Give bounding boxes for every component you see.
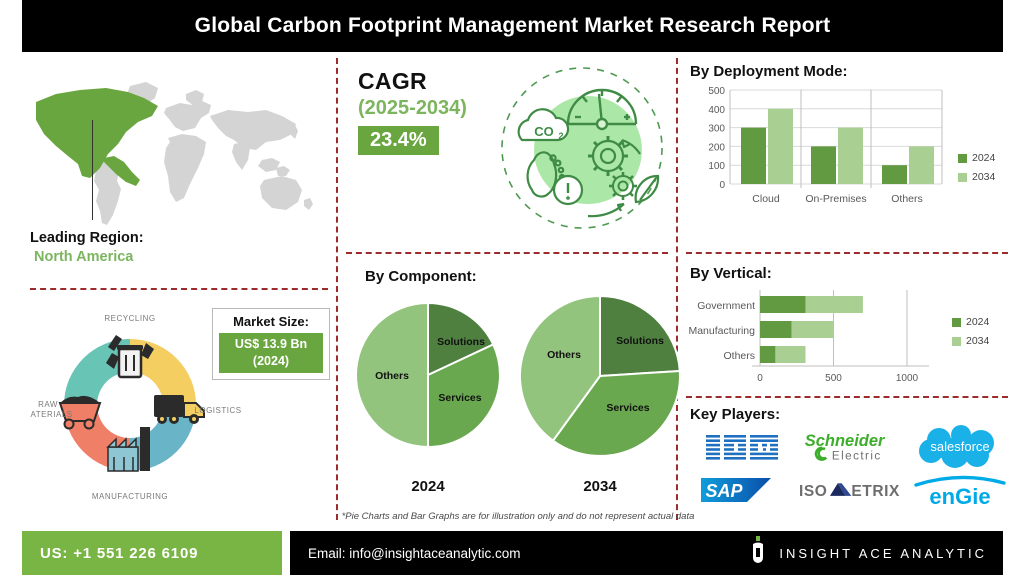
legend-item-2024: 2024 — [958, 152, 995, 164]
chart-disclaimer: *Pie Charts and Bar Graphs are for illus… — [332, 511, 704, 522]
footer-phone: US: +1 551 226 6109 — [40, 545, 198, 562]
pie-caption-2034: 2034 — [519, 478, 681, 495]
svg-text:Schneider: Schneider — [804, 432, 885, 450]
logo-ibm — [688, 424, 797, 470]
market-size-value: US$ 13.9 Bn — [235, 336, 307, 353]
svg-text:ISO: ISO — [799, 483, 827, 500]
svg-text:0: 0 — [757, 373, 763, 384]
map-pin-line — [92, 120, 93, 220]
svg-text:300: 300 — [708, 124, 725, 135]
cagr-label: CAGR — [358, 68, 467, 95]
svg-text:Electric: Electric — [832, 450, 882, 463]
svg-text:Services: Services — [606, 402, 649, 414]
legend-swatch-2024 — [958, 154, 967, 163]
logo-schneider-electric: Schneider Electric — [797, 424, 906, 470]
deployment-legend: 2024 2034 — [958, 152, 995, 190]
market-size-value-box: US$ 13.9 Bn (2024) — [219, 333, 323, 373]
legend-item-2034-vertical: 2034 — [952, 335, 989, 347]
market-size-box: Market Size: US$ 13.9 Bn (2024) — [212, 308, 330, 380]
logo-engie: enGie — [905, 470, 1014, 510]
footer-contact-bar: Email: info@insightaceanalytic.com INSIG… — [290, 531, 1003, 575]
divider-horizontal-right-bottom — [686, 396, 1008, 398]
deployment-section-title: By Deployment Mode: — [690, 63, 848, 80]
logo-sap: SAP — [688, 470, 797, 510]
svg-text:Services: Services — [438, 392, 481, 404]
svg-text:500: 500 — [825, 373, 842, 384]
carbon-footprint-illustration: CO 2 — [490, 62, 675, 237]
svg-text:Solutions: Solutions — [437, 336, 485, 348]
vertical-section-title: By Vertical: — [690, 265, 772, 282]
svg-text:RECYCLING: RECYCLING — [104, 314, 155, 323]
svg-text:salesforce: salesforce — [930, 439, 989, 454]
vertical-legend: 2024 2034 — [952, 316, 989, 354]
svg-text:LOGISTICS: LOGISTICS — [194, 406, 241, 415]
legend-label-2024: 2024 — [972, 152, 995, 164]
legend-item-2034: 2034 — [958, 171, 995, 183]
cagr-block: CAGR (2025-2034) 23.4% — [358, 68, 467, 155]
svg-text:100: 100 — [708, 161, 725, 172]
svg-text:MANUFACTURING: MANUFACTURING — [92, 492, 168, 501]
legend-swatch-2034-vertical — [952, 337, 961, 346]
leading-region-value: North America — [34, 249, 144, 265]
leading-region-label: Leading Region: — [30, 230, 144, 246]
leading-region-block: Leading Region: North America — [30, 230, 144, 265]
logo-isometrix: ISO ETRIX — [797, 470, 906, 510]
cagr-value-badge: 23.4% — [358, 126, 439, 155]
svg-text:0: 0 — [719, 180, 725, 191]
svg-text:Government: Government — [697, 300, 755, 312]
world-map — [18, 72, 318, 232]
svg-text:500: 500 — [708, 86, 725, 97]
vertical-bar-chart: Government Manufacturing Others 0 500 10… — [686, 288, 946, 388]
svg-text:SAP: SAP — [706, 481, 744, 501]
pie-chart-2024: Solutions Services Others — [354, 300, 502, 450]
svg-text:Manufacturing: Manufacturing — [688, 325, 755, 337]
footer-phone-block: US: +1 551 226 6109 — [22, 531, 282, 575]
legend-swatch-2024-vertical — [952, 318, 961, 327]
svg-text:enGie: enGie — [929, 484, 990, 509]
svg-text:Solutions: Solutions — [616, 335, 664, 347]
footer-email: Email: info@insightaceanalytic.com — [308, 546, 521, 561]
cagr-period: (2025-2034) — [358, 97, 467, 120]
pie-caption-2024: 2024 — [354, 478, 502, 495]
svg-text:Others: Others — [723, 350, 755, 362]
divider-horizontal-right-top — [686, 252, 1008, 254]
pie-chart-2034: Solutions Services Others — [519, 293, 681, 459]
insight-ace-logo-icon — [747, 535, 769, 572]
svg-text:2: 2 — [558, 131, 563, 141]
page-title: Global Carbon Footprint Management Marke… — [195, 14, 831, 38]
svg-text:200: 200 — [708, 142, 725, 153]
svg-text:Others: Others — [891, 193, 923, 205]
header-bar: Global Carbon Footprint Management Marke… — [22, 0, 1003, 52]
divider-horizontal-left — [30, 288, 328, 290]
divider-vertical-left — [336, 58, 338, 520]
svg-text:ETRIX: ETRIX — [851, 483, 900, 500]
svg-text:Others: Others — [375, 370, 409, 382]
svg-text:400: 400 — [708, 105, 725, 116]
key-players-grid: Schneider Electric salesforce — [688, 424, 1014, 510]
infographic-page: Global Carbon Footprint Management Marke… — [0, 0, 1024, 576]
legend-label-2034: 2034 — [972, 171, 995, 183]
deployment-bar-chart: 500 400 300 200 100 0 Cloud On-Premises … — [686, 84, 946, 208]
svg-text:1000: 1000 — [896, 373, 919, 384]
divider-horizontal-center — [346, 252, 668, 254]
svg-text:CO: CO — [534, 124, 554, 139]
legend-label-2034-vertical: 2034 — [966, 335, 989, 347]
footer-brand-text: INSIGHT ACE ANALYTIC — [779, 546, 987, 561]
legend-label-2024-vertical: 2024 — [966, 316, 989, 328]
svg-text:RAW: RAW — [38, 400, 58, 409]
svg-text:MATERIALS: MATERIALS — [30, 410, 73, 419]
logo-salesforce: salesforce — [905, 424, 1014, 470]
svg-text:Cloud: Cloud — [752, 193, 780, 205]
legend-swatch-2034 — [958, 173, 967, 182]
footer-brand-block: INSIGHT ACE ANALYTIC — [747, 531, 987, 575]
market-size-year: (2024) — [253, 353, 289, 370]
legend-item-2024-vertical: 2024 — [952, 316, 989, 328]
key-players-title: Key Players: — [690, 406, 780, 423]
svg-text:On-Premises: On-Premises — [805, 193, 866, 205]
svg-text:Others: Others — [547, 349, 581, 361]
market-size-label: Market Size: — [233, 314, 309, 329]
component-section-title: By Component: — [365, 268, 477, 285]
